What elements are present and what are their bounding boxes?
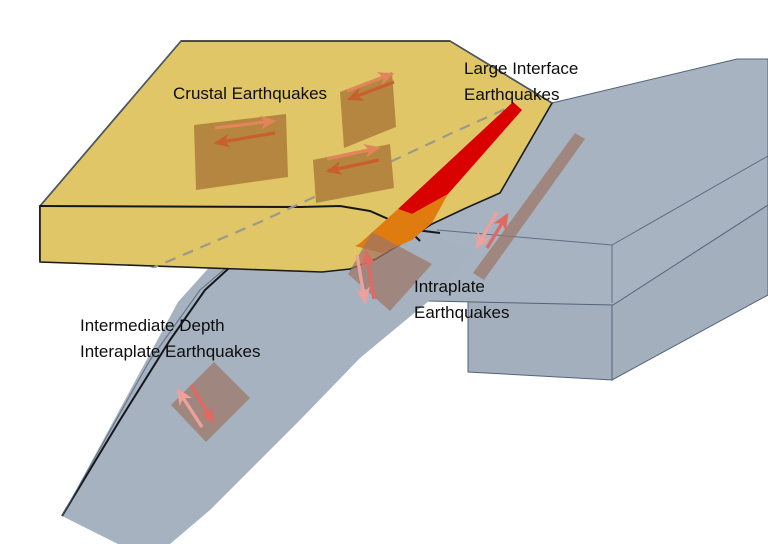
diagram-canvas: Crustal Earthquakes Large Interface Eart… [0, 0, 768, 544]
intraplate-earthquakes-label-line-1: Intraplate [414, 277, 485, 296]
crustal-earthquakes-label: Crustal Earthquakes [173, 84, 327, 103]
large-interface-earthquakes-label-line-2: Earthquakes [464, 85, 559, 104]
intraplate-earthquakes-label-line-2: Earthquakes [414, 303, 509, 322]
crustal-earthquakes-label-line-1: Crustal Earthquakes [173, 84, 327, 103]
intermediate-depth-label-line-1: Intermediate Depth [80, 316, 225, 335]
earthquake-types-diagram: Crustal Earthquakes Large Interface Eart… [0, 0, 768, 544]
intermediate-depth-label-line-2: Interaplate Earthquakes [80, 342, 261, 361]
large-interface-earthquakes-label-line-1: Large Interface [464, 59, 578, 78]
crustal-fault-patch-1 [194, 114, 288, 190]
